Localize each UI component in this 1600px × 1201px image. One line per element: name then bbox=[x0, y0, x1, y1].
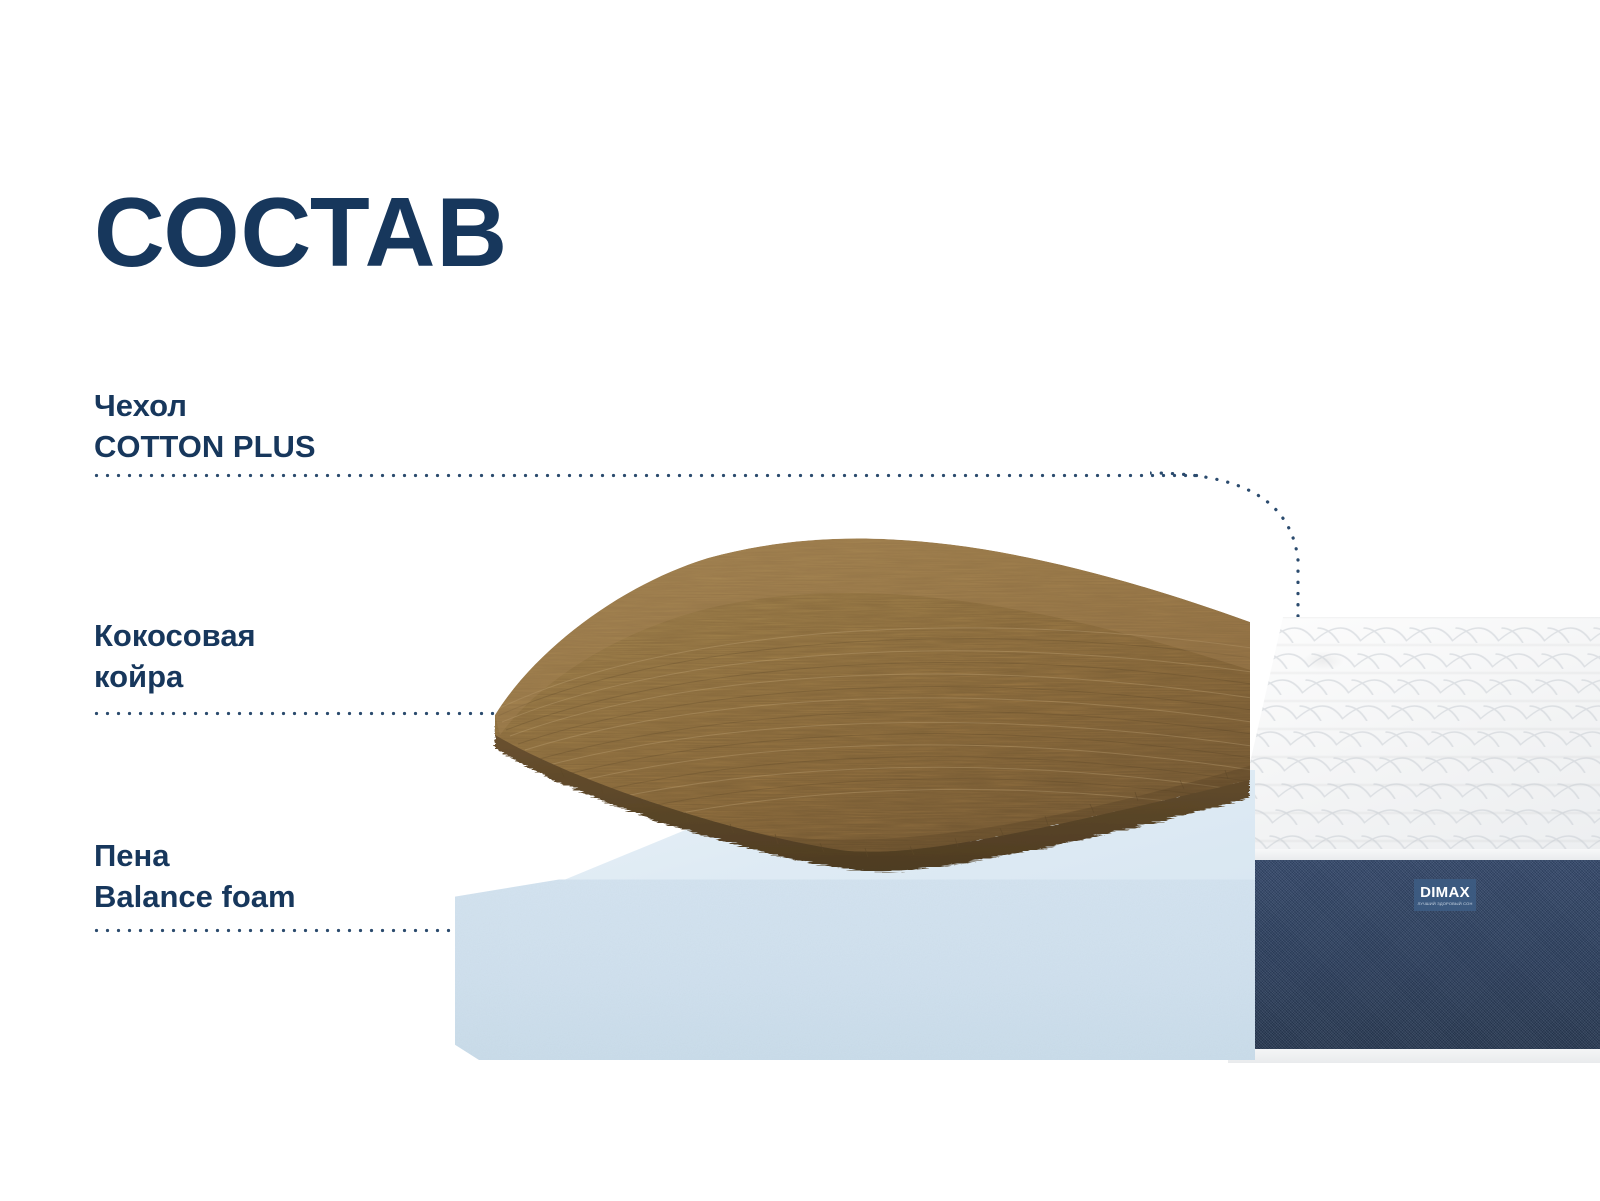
callout-foam-line2: Balance foam bbox=[94, 876, 296, 917]
brand-tagline: ЛУЧШИЙ ЗДОРОВЫЙ СОН bbox=[1417, 902, 1472, 906]
callout-cover-line1: Чехол bbox=[94, 388, 187, 423]
mattress-welt-bottom bbox=[1228, 1049, 1600, 1063]
callout-label-foam: Пена Balance foam bbox=[94, 835, 296, 917]
callout-cover-line2: COTTON PLUS bbox=[94, 426, 316, 467]
callout-label-cover: Чехол COTTON PLUS bbox=[94, 385, 316, 467]
mattress-body: DIMAX ЛУЧШИЙ ЗДОРОВЫЙ СОН bbox=[1228, 617, 1600, 1062]
foam-texture bbox=[455, 870, 1255, 1060]
quilt-pattern bbox=[1228, 617, 1600, 860]
callout-foam-line1: Пена bbox=[94, 838, 170, 873]
callout-coir-line2: койра bbox=[94, 656, 256, 697]
infographic-canvas: СОСТАВ Чехол COTTON PLUS Кокосовая койра… bbox=[0, 0, 1600, 1201]
foam-front-face bbox=[455, 870, 1255, 1060]
coir-slab-svg bbox=[440, 530, 1250, 875]
callout-coir-line1: Кокосовая bbox=[94, 618, 256, 653]
brand-name: DIMAX bbox=[1420, 885, 1470, 900]
brand-logo-patch: DIMAX ЛУЧШИЙ ЗДОРОВЫЙ СОН bbox=[1414, 879, 1476, 911]
leader-line-cover bbox=[91, 473, 1206, 478]
page-title: СОСТАВ bbox=[94, 183, 508, 281]
callout-label-coir: Кокосовая койра bbox=[94, 615, 256, 697]
coconut-coir-layer bbox=[440, 530, 1250, 875]
mattress-side-panel: DIMAX ЛУЧШИЙ ЗДОРОВЫЙ СОН bbox=[1228, 860, 1600, 1062]
mattress-quilted-top bbox=[1228, 617, 1600, 860]
